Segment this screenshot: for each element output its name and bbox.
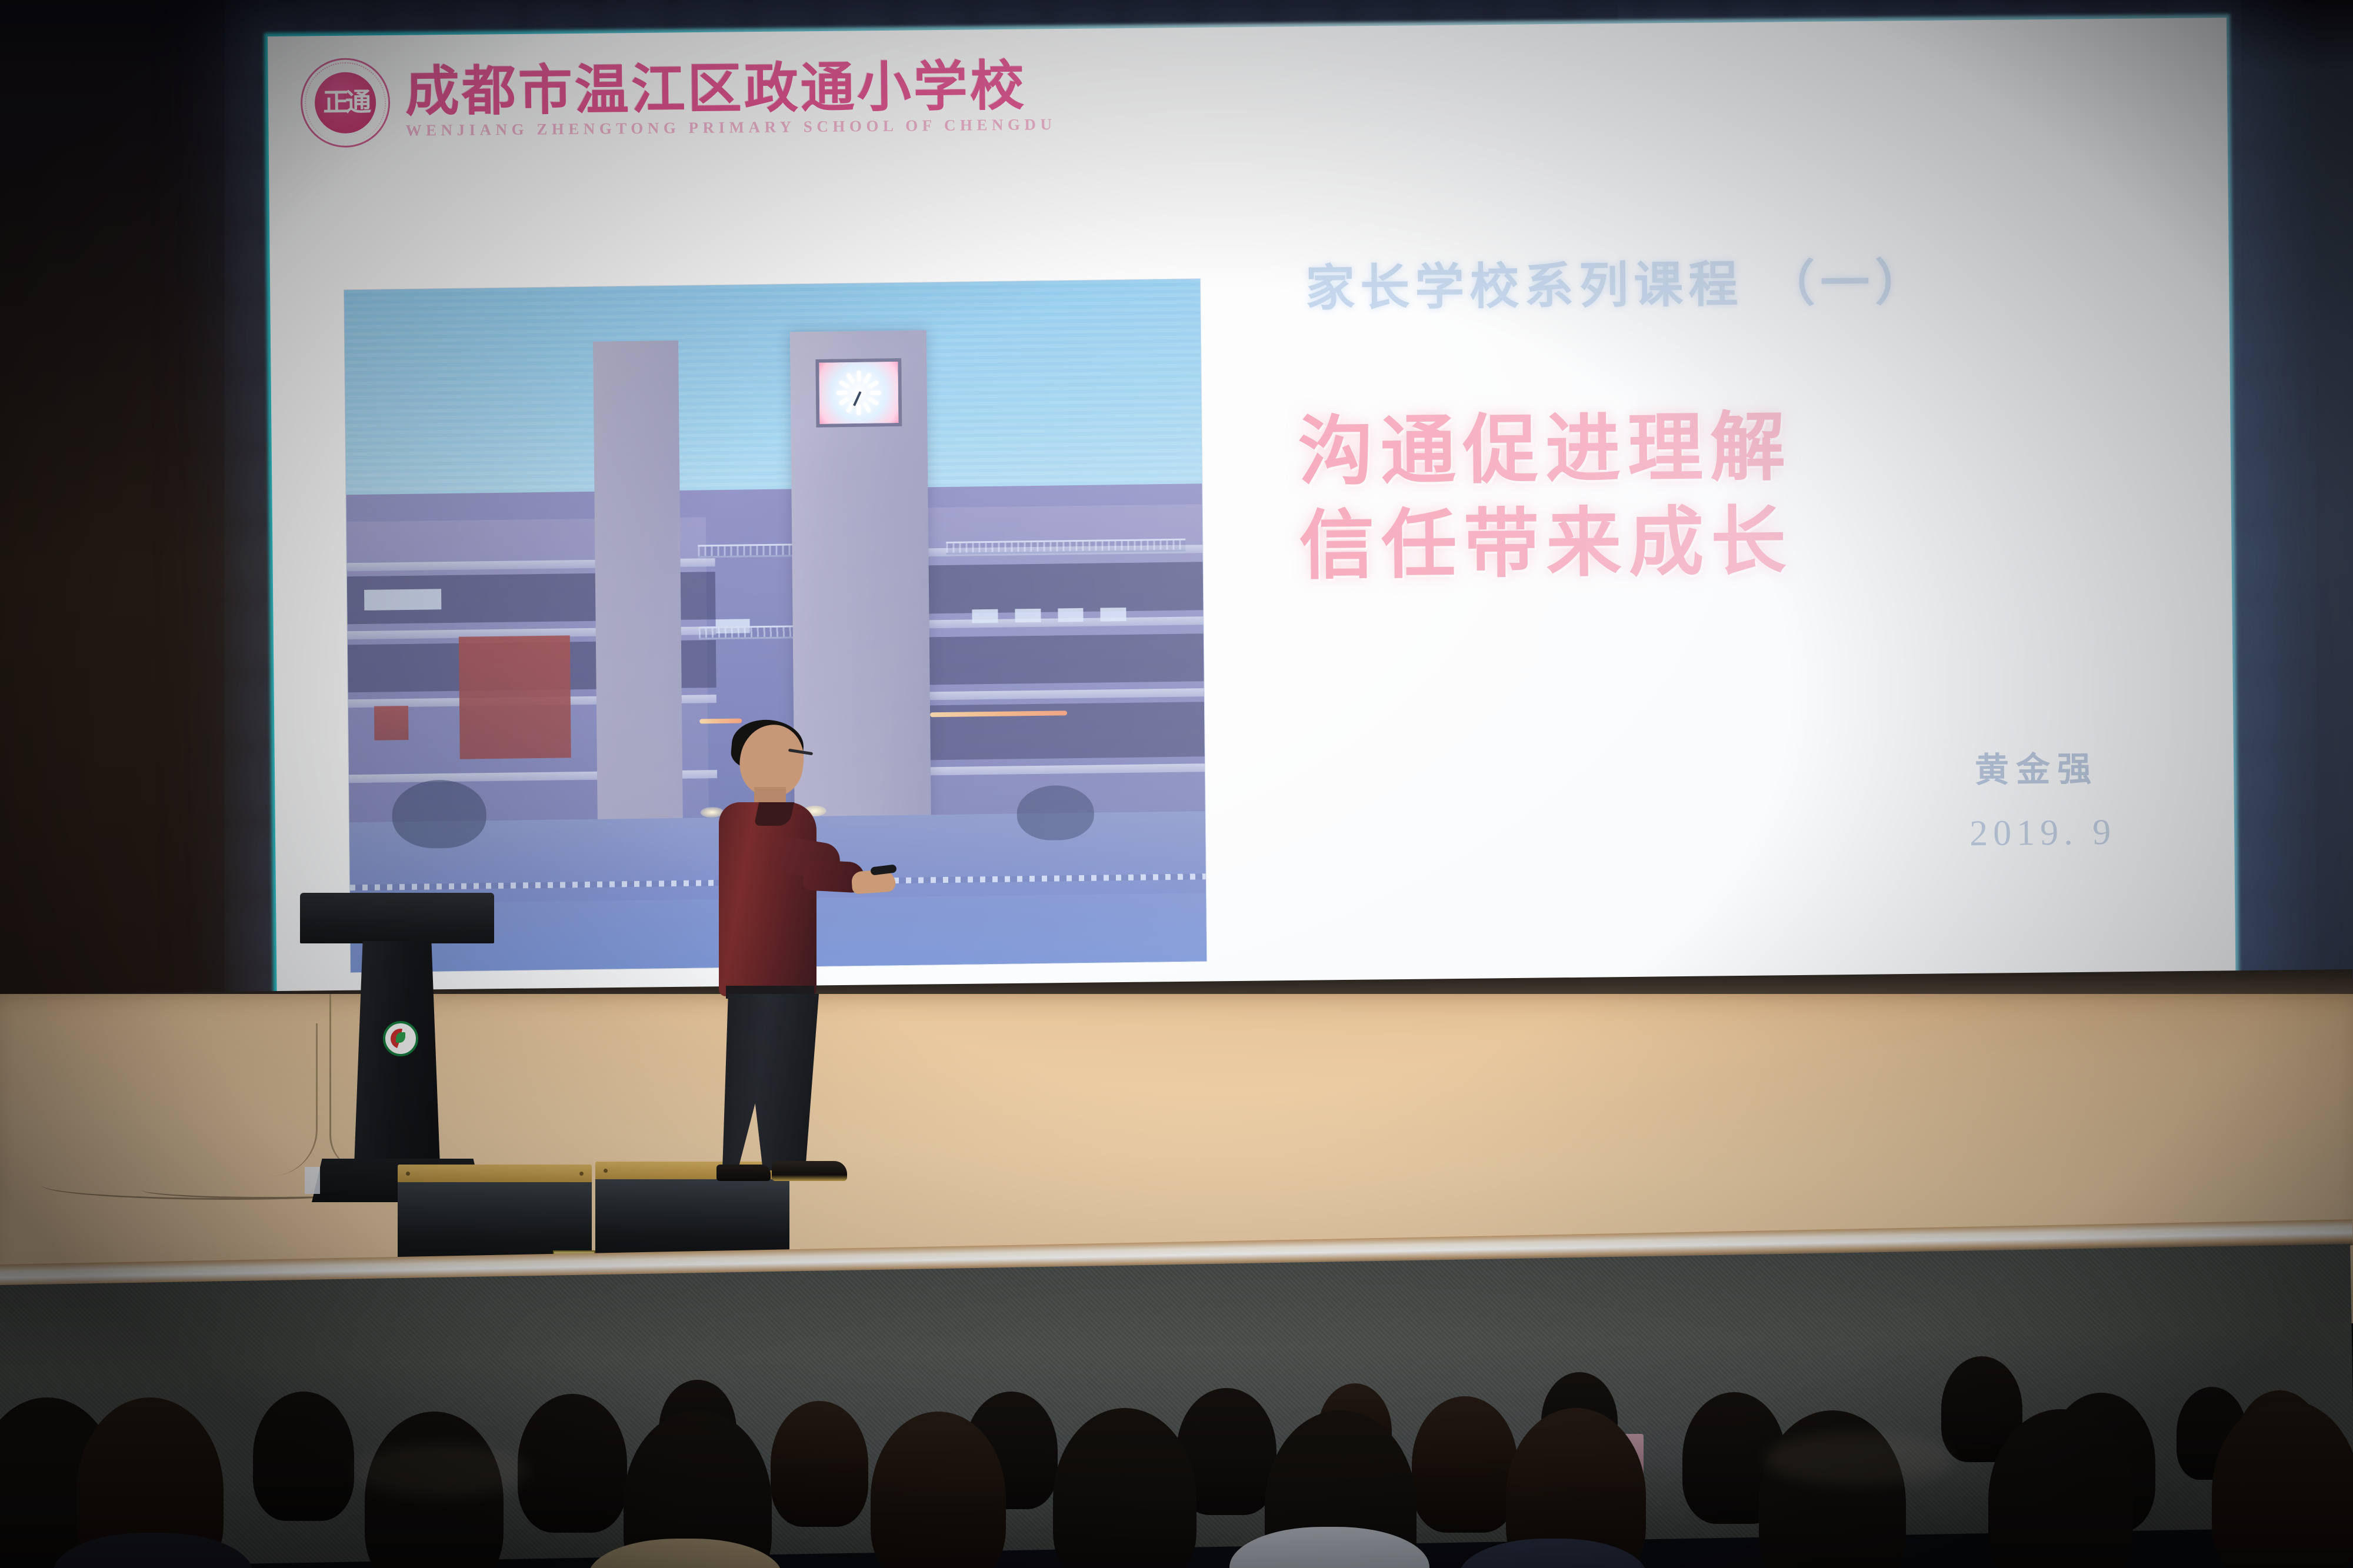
audience-head [518,1394,627,1533]
photo-tree [392,779,486,849]
speaker-legs [722,994,819,1170]
crest-inner [391,1029,411,1049]
photo-tower-clock-icon [816,358,902,428]
photo-stair-tower [593,341,684,860]
slide-title-line-2: 信任带来成长 [1299,501,1794,587]
audience-head [1412,1396,1518,1533]
photo-railing [698,543,801,558]
speaker-shoe [716,1165,771,1181]
slide-header: 正通 成都市温江区政通小学校 WENJIANG ZHENGTONG PRIMAR… [300,51,1056,148]
monitor-screw [604,1169,608,1173]
slide-series-label: 家长学校系列课程 （一） [1305,243,1930,320]
audience-head [1053,1408,1197,1568]
photo-railing [698,625,801,639]
screen-surface: 正通 成都市温江区政通小学校 WENJIANG ZHENGTONG PRIMAR… [268,18,2236,1001]
slide-presenter-name: 黄金强 [1975,741,2099,792]
auditorium-scene: 正通 成都市温江区政通小学校 WENJIANG ZHENGTONG PRIMAR… [0,0,2353,1568]
photo-window [972,609,998,623]
photo-window [364,589,441,611]
monitor-top-panel [398,1165,592,1185]
school-seal-icon: 正通 [300,58,390,148]
photo-window [1101,608,1126,622]
school-crest-icon [383,1021,418,1056]
clock-face [819,362,898,424]
seal-ring [304,62,386,144]
photo-window [1058,608,1084,622]
audience-head [253,1392,354,1521]
speaker-standing [700,725,876,1189]
photo-light-strip [699,718,742,723]
photo-window [1015,609,1041,623]
school-name-cn: 成都市温江区政通小学校 [405,58,1056,119]
speaker-torso [719,802,816,996]
photo-red-panel [459,635,571,759]
photo-red-panel [374,706,409,740]
speaker-shoe [772,1161,847,1181]
audience-highlight [1765,1433,1953,1486]
photo-shadow-band [895,562,1204,614]
slide-date: 2019. 9 [1969,812,2117,855]
audience-highlight [353,1444,529,1497]
slide-main-title: 沟通促进理解 信任带来成长 [1298,407,1794,588]
photo-shadow-band [895,633,1204,685]
photo-tree [1016,785,1094,841]
projection-screen: 正通 成都市温江区政通小学校 WENJIANG ZHENGTONG PRIMAR… [268,18,2236,1001]
monitor-screw [579,1172,584,1176]
lectern-glow [305,1167,320,1194]
lectern-desktop [300,893,494,943]
monitor-screw [406,1172,410,1176]
seated-audience [0,1265,2353,1568]
school-name-block: 成都市温江区政通小学校 WENJIANG ZHENGTONG PRIMARY S… [405,58,1056,140]
audience-head [771,1401,868,1527]
slide-title-line-1: 沟通促进理解 [1298,407,1792,493]
